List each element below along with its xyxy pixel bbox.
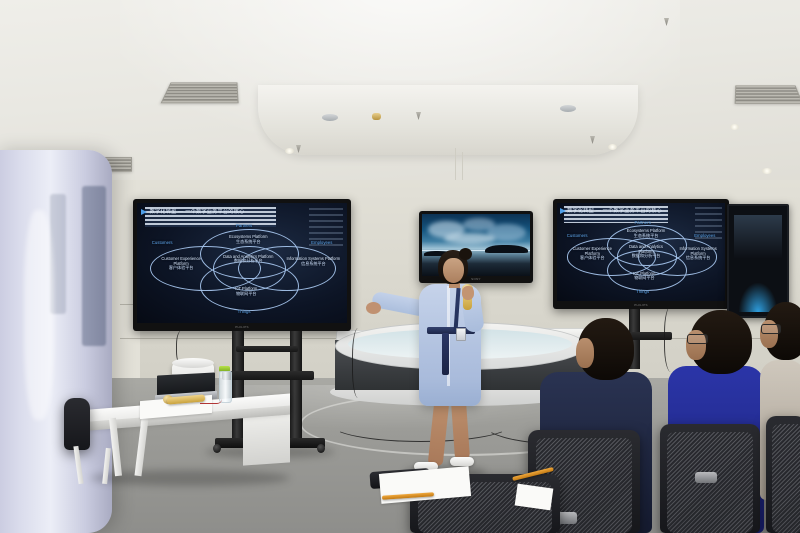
attendee-3-glasses-icon [761,324,781,334]
ceiling-speaker-icon [322,114,338,121]
attendee-2-chair-adjuster[interactable] [695,472,717,483]
cloud [444,233,496,244]
venn-outer-label-customers: Customers [139,240,185,245]
venn-label-customer-experience-cn: 客户体验平台 [570,256,614,261]
venn-outer-label-customers: Customers [557,233,597,238]
venn-label-data-analytics: Data and Analytics Platform 数据和分析平台 [623,245,670,259]
venn-outer-label-employees: Employees [685,233,725,238]
venn-label-ecosystems-cn: 生态系统平台 [202,240,294,245]
slide-canvas: 数字化转型 — 一个数字业务平台的核心 Partners Customers E… [137,203,347,323]
downlight [608,144,617,150]
downlight [730,124,739,130]
presenter-face [443,258,464,283]
venn-label-ecosystems: Ecosystems Platform 生态系统平台 [609,229,683,238]
venn-label-ecosystems-cn: 生态系统平台 [609,234,683,239]
slide-canvas-mirror: 数字化转型 — 一个数字业务平台的核心 Partners Customers E… [557,203,725,301]
venn-outer-label-things: Things [221,309,267,314]
wall-cable [664,306,681,372]
wall-cable [352,328,367,398]
attendee-1-face [576,338,594,368]
speakerphone-top [172,358,214,368]
venn-outer-label-partners: Partners [624,220,661,225]
conference-room-photo: 数字化转型 — 一个数字业务平台的核心 Partners Customers E… [0,0,800,533]
left-display-screen: 数字化转型 — 一个数字业务平台的核心 Partners Customers E… [137,203,347,323]
shoreline-rocks [485,245,528,253]
venn-label-information-systems-cn: 信息系统平台 [676,256,720,261]
presenter-shoe [450,457,474,466]
presenter-left-hand [366,302,381,314]
venn-label-iot-cn: 物联网平台 [217,292,276,297]
far-right-wall-display[interactable] [727,204,789,318]
display-brand-logo: PHILIPS [235,325,249,329]
column-reflection [82,186,106,346]
display-reflection [734,215,783,259]
ceiling-soffit [258,85,638,155]
venn-label-iot-cn: 物联网平台 [621,276,668,281]
belt-tail [442,333,449,375]
venn-label-data-analytics-cn: 数据和分析平台 [219,259,278,264]
attendee-2-glasses-icon [687,334,708,344]
side-chair[interactable] [64,398,90,450]
presenter-id-badge [456,328,466,341]
downlight [762,168,772,174]
attendee-3-chair-mesh [772,424,800,533]
hvac-vent [735,85,800,103]
venn-label-data-analytics: Data and Analytics Platform 数据和分析平台 [219,255,278,264]
desk-modesty-panel [243,414,290,465]
venn-label-iot: IoT Platform 物联网平台 [217,287,276,296]
venn-label-customer-experience: Customer Experience Platform 客户体验平台 [570,247,614,261]
presenter-hair-bun [459,248,472,260]
venn-outer-label-partners: Partners [221,223,267,228]
center-display[interactable]: SONY [419,211,533,283]
right-presentation-display[interactable]: 数字化转型 — 一个数字业务平台的核心 Partners Customers E… [553,199,729,309]
venn-label-information-systems-cn: 信息系统平台 [286,262,341,267]
ceiling-speaker-icon [560,105,576,112]
venn-outer-label-employees: Employees [299,240,345,245]
venn-label-information-systems: Information Systems Platform 信息系统平台 [286,257,341,266]
venn-label-data-analytics-cn: 数据和分析平台 [623,254,670,259]
center-display-brand: SONY [471,277,481,281]
venn-label-ecosystems: Ecosystems Platform 生态系统平台 [202,235,294,244]
downlight [285,148,294,154]
venn-label-information-systems: Information Systems Platform 信息系统平台 [676,247,720,261]
venn-label-iot: IoT Platform 物联网平台 [621,272,668,281]
smoke-detector-icon [372,113,381,120]
display-stand-shelf [222,371,314,380]
venn-diagram-mirror: Partners Customers Employees Things Ecos… [557,203,725,301]
display-stand-crossbar [236,346,298,352]
right-display-screen: 数字化转型 — 一个数字业务平台的核心 Partners Customers E… [557,203,725,301]
venn-label-customer-experience-cn: 客户体验平台 [154,266,209,271]
right-display-brand: PHILIPS [634,303,648,307]
venn-label-customer-experience: Customer Experience Platform 客户体验平台 [154,257,209,271]
venn-diagram: Partners Customers Employees Things Ecos… [137,203,347,323]
left-presentation-display[interactable]: 数字化转型 — 一个数字业务平台的核心 Partners Customers E… [133,199,351,331]
microphone-cord [200,399,222,404]
hvac-vent [161,82,239,103]
venn-outer-label-things: Things [624,289,661,294]
presenter-right-hand [462,286,474,300]
column-highlight [24,210,54,420]
